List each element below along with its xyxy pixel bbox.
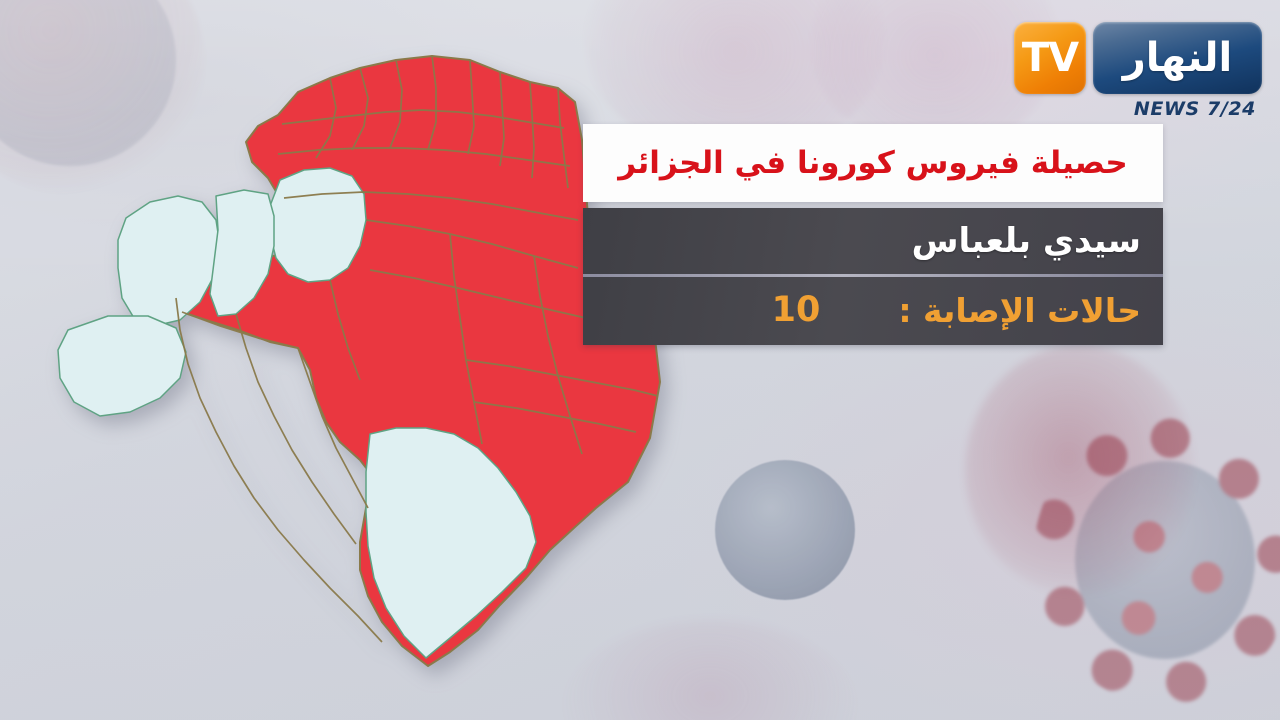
logo-channel-name-badge: النهار — [1093, 22, 1262, 94]
logo-arabic-name: النهار — [1123, 38, 1233, 78]
logo-tv-badge: TV — [1014, 22, 1086, 94]
wilaya-row: سيدي بلعباس — [583, 208, 1163, 274]
title-banner-text: حصيلة فيروس كورونا في الجزائر — [618, 145, 1127, 181]
wilaya-name: سيدي بلعباس — [912, 221, 1141, 261]
cases-value: 10 — [772, 290, 821, 330]
map-region-unaffected — [58, 316, 186, 416]
info-banner: سيدي بلعباس 10 حالات الإصابة : — [583, 208, 1163, 345]
logo-tagline: NEWS 7/24 — [1014, 98, 1262, 120]
logo-tv-label: TV — [1022, 38, 1078, 78]
title-banner: حصيلة فيروس كورونا في الجزائر — [583, 124, 1163, 202]
cases-row: 10 حالات الإصابة : — [583, 277, 1163, 343]
broadcast-graphic: TV النهار NEWS 7/24 حصيلة فيروس كورونا ف… — [0, 0, 1280, 720]
channel-logo: TV النهار NEWS 7/24 — [1014, 22, 1262, 130]
cases-label: حالات الإصابة : — [898, 291, 1141, 330]
banner-divider — [583, 274, 1163, 277]
